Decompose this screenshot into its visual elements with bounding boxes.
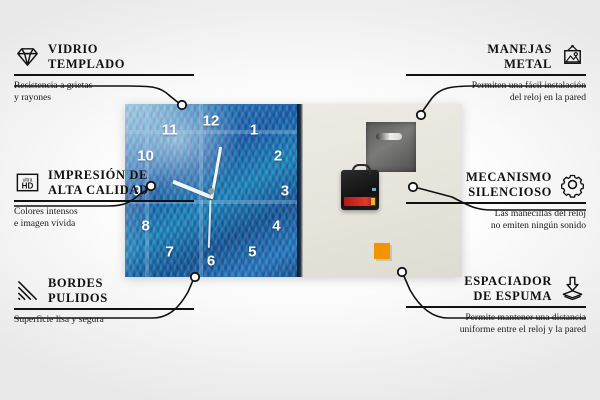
feature-description: Superficie lisa y segura — [14, 314, 194, 327]
clock-numeral: 10 — [137, 149, 154, 164]
ultra-hd-icon: ultra HD — [14, 169, 41, 196]
feature-title: VIDRIO TEMPLADO — [48, 42, 125, 71]
clock-pattern-line — [125, 130, 297, 134]
clock-numeral: 7 — [166, 245, 174, 260]
hanger-slot — [376, 133, 402, 140]
battery — [344, 197, 376, 206]
clock-numeral: 5 — [248, 245, 256, 260]
metal-hanger-plate — [366, 122, 416, 172]
feature-title: IMPRESIÓN DE ALTA CALIDAD — [48, 168, 149, 197]
clock-numeral: 2 — [274, 149, 282, 164]
clock-numeral: 1 — [250, 123, 258, 138]
divider — [14, 200, 194, 202]
feature-espaciador-de-espuma: ESPACIADOR DE ESPUMA Permite mantener un… — [406, 274, 586, 337]
divider — [406, 74, 586, 76]
feature-title: MANEJAS METAL — [487, 42, 552, 71]
feature-title: MECANISMO SILENCIOSO — [466, 170, 552, 199]
feature-vidrio-templado: VIDRIO TEMPLADO Resistencia a grietas y … — [14, 42, 194, 105]
diamond-icon — [14, 43, 41, 70]
mechanism-detail — [372, 188, 376, 191]
divider — [14, 308, 194, 310]
polished-edges-icon — [14, 277, 41, 304]
feature-impresion-alta-calidad: ultra HD IMPRESIÓN DE ALTA CALIDAD Color… — [14, 168, 194, 231]
battery-terminal — [371, 198, 375, 205]
feature-description: Las manecillas del reloj no emiten ningú… — [406, 208, 586, 233]
mechanism-hanger-loop — [352, 164, 371, 175]
infographic-canvas: 12 1 2 3 4 5 6 7 8 9 10 11 — [0, 0, 600, 400]
divider — [14, 74, 194, 76]
clock-mechanism — [341, 170, 379, 210]
feature-description: Colores intensos e imagen vívida — [14, 206, 194, 231]
feature-manejas-metal: MANEJAS METAL Permiten una fácil instala… — [406, 42, 586, 105]
clock-center-cap — [208, 188, 214, 194]
clock-numeral: 4 — [272, 219, 280, 234]
feature-description: Resistencia a grietas y rayones — [14, 80, 194, 105]
divider — [406, 202, 586, 204]
divider — [406, 306, 586, 308]
feature-mecanismo-silencioso: MECANISMO SILENCIOSO Las manecillas del … — [406, 170, 586, 233]
clock-numeral: 11 — [162, 123, 178, 138]
svg-text:HD: HD — [22, 182, 34, 191]
feature-bordes-pulidos: BORDES PULIDOS Superficie lisa y segura — [14, 276, 194, 326]
feature-title: BORDES PULIDOS — [48, 276, 108, 305]
feature-description: Permiten una fácil instalación del reloj… — [406, 80, 586, 105]
arrow-down-stack-icon — [559, 275, 586, 302]
clock-numeral: 3 — [281, 184, 289, 199]
foam-spacer — [374, 243, 390, 259]
feature-title: ESPACIADOR DE ESPUMA — [464, 274, 552, 303]
clock-numeral: 6 — [207, 254, 215, 269]
picture-frame-hanging-icon — [559, 43, 586, 70]
clock-numeral: 12 — [203, 114, 220, 129]
feature-description: Permite mantener una distancia uniforme … — [406, 312, 586, 337]
gear-icon — [559, 171, 586, 198]
